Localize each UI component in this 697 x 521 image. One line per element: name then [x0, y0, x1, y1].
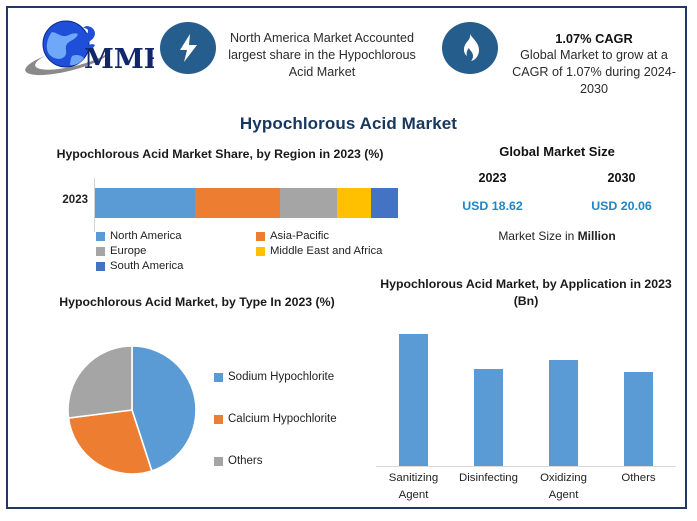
- region-legend: North America Asia-Pacific Europe Middle…: [96, 230, 416, 275]
- legend-item-middle-east-africa: Middle East and Africa: [256, 245, 382, 257]
- region-segment-4: [371, 188, 398, 218]
- cagr-note: 1.07% CAGR Global Market to grow at a CA…: [504, 30, 684, 98]
- pie-graphic: [66, 344, 198, 476]
- gms-column-2030: 2030 USD 20.06: [557, 171, 686, 213]
- application-chart: Hypochlorous Acid Market, by Application…: [376, 276, 676, 514]
- region-segment-2: [280, 188, 338, 218]
- pie-legend-swatch-others: [214, 457, 223, 466]
- region-segment-1: [195, 188, 280, 218]
- application-label-disinfecting: Disinfecting: [451, 470, 526, 504]
- application-plot-area: [376, 320, 676, 466]
- region-segment-0: [95, 188, 195, 218]
- gms-value-2023: USD 18.62: [428, 199, 557, 213]
- application-bar-1: [474, 369, 503, 466]
- pie-legend-item-sodium: Sodium Hypochlorite: [214, 356, 337, 398]
- region-chart-title: Hypochlorous Acid Market Share, by Regio…: [22, 146, 418, 163]
- pie-legend-swatch-sodium: [214, 373, 223, 382]
- application-chart-title: Hypochlorous Acid Market, by Application…: [376, 276, 676, 310]
- infographic-frame: MMR North America Market Accounted large…: [6, 6, 687, 509]
- pie-legend-label-calcium: Calcium Hypochlorite: [228, 413, 337, 425]
- legend-swatch-europe: [96, 247, 105, 256]
- global-market-size: Global Market Size 2023 USD 18.62 2030 U…: [428, 144, 686, 243]
- application-label-sanitizing: Sanitizing Agent: [376, 470, 451, 504]
- svg-text:MMR: MMR: [84, 44, 154, 75]
- gms-value-2030: USD 20.06: [557, 199, 686, 213]
- legend-swatch-asia-pacific: [256, 232, 265, 241]
- legend-item-south-america: South America: [96, 260, 256, 272]
- legend-label-europe: Europe: [110, 245, 146, 257]
- legend-item-europe: Europe: [96, 245, 256, 257]
- flame-icon: [442, 22, 498, 74]
- legend-swatch-north-america: [96, 232, 105, 241]
- pie-legend-swatch-calcium: [214, 415, 223, 424]
- pie-legend-item-calcium: Calcium Hypochlorite: [214, 398, 337, 440]
- legend-label-middle-east-africa: Middle East and Africa: [270, 245, 382, 257]
- application-bar-0: [399, 334, 428, 466]
- application-label-oxidizing: Oxidizing Agent: [526, 470, 601, 504]
- page-title: Hypochlorous Acid Market: [8, 114, 689, 134]
- pie-legend-label-sodium: Sodium Hypochlorite: [228, 371, 334, 383]
- gms-footnote-unit: Million: [578, 229, 616, 243]
- lightning-bolt-icon: [160, 22, 216, 74]
- gms-footnote: Market Size in Million: [428, 229, 686, 243]
- legend-label-asia-pacific: Asia-Pacific: [270, 230, 329, 242]
- gms-footnote-prefix: Market Size in: [498, 229, 577, 243]
- north-america-note: North America Market Accounted largest s…: [222, 30, 422, 81]
- gms-year-2030: 2030: [557, 171, 686, 185]
- legend-label-south-america: South America: [110, 260, 183, 272]
- pie-legend-label-others: Others: [228, 455, 263, 467]
- pie-legend-item-others: Others: [214, 440, 337, 482]
- application-label-others: Others: [601, 470, 676, 504]
- gms-column-2023: 2023 USD 18.62: [428, 171, 557, 213]
- application-baseline: [376, 466, 676, 467]
- region-category-label: 2023: [30, 194, 88, 206]
- application-bar-2: [549, 360, 578, 466]
- legend-item-asia-pacific: Asia-Pacific: [256, 230, 329, 242]
- gms-title: Global Market Size: [428, 144, 686, 159]
- legend-item-north-america: North America: [96, 230, 256, 242]
- region-segment-3: [337, 188, 370, 218]
- application-bar-3: [624, 372, 653, 466]
- legend-swatch-south-america: [96, 262, 105, 271]
- pie-legend: Sodium Hypochlorite Calcium Hypochlorite…: [214, 356, 337, 482]
- region-share-chart: Hypochlorous Acid Market Share, by Regio…: [22, 146, 418, 288]
- gms-year-2023: 2023: [428, 171, 557, 185]
- pie-chart-title: Hypochlorous Acid Market, by Type In 202…: [22, 294, 372, 311]
- legend-swatch-middle-east-africa: [256, 247, 265, 256]
- legend-label-north-america: North America: [110, 230, 182, 242]
- cagr-description: Global Market to grow at a CAGR of 1.07%…: [512, 48, 676, 96]
- region-stacked-bar: [95, 188, 398, 218]
- pie-slice-2: [68, 346, 132, 418]
- application-category-labels: Sanitizing Agent Disinfecting Oxidizing …: [376, 470, 676, 504]
- mmr-logo: MMR: [22, 16, 154, 80]
- type-share-chart: Hypochlorous Acid Market, by Type In 202…: [22, 294, 372, 514]
- cagr-heading: 1.07% CAGR: [504, 30, 684, 47]
